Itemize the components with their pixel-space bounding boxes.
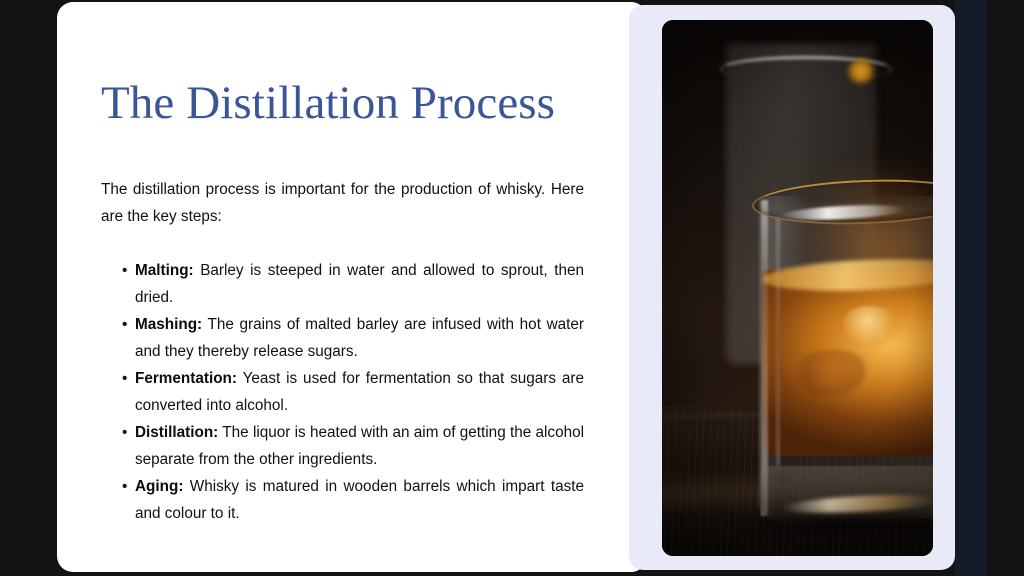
content-card: The Distillation Process The distillatio… [57,2,647,572]
gold-bokeh-highlight [846,58,876,84]
content-inner: The Distillation Process The distillatio… [101,2,627,572]
step-term: Malting: [135,262,194,279]
list-item: Aging: Whisky is matured in wooden barre… [122,473,584,527]
glass-inner-edge-highlight [776,216,780,466]
step-description: Barley is steeped in water and allowed t… [135,262,584,306]
distillation-steps-list: Malting: Barley is steeped in water and … [122,257,584,527]
step-term: Aging: [135,478,183,495]
glass-cast-shadow [748,512,933,538]
right-navy-band [955,0,987,576]
list-item: Mashing: The grains of malted barley are… [122,311,584,365]
whisky-glass-photo [662,20,933,556]
step-term: Fermentation: [135,370,237,387]
step-description: Whisky is matured in wooden barrels whic… [135,478,584,522]
step-description: The grains of malted barley are infused … [135,316,584,360]
list-item: Fermentation: Yeast is used for fermenta… [122,365,584,419]
photo-card [629,5,955,570]
list-item: Distillation: The liquor is heated with … [122,419,584,473]
photo-scene [662,20,933,556]
intro-paragraph: The distillation process is important fo… [101,176,584,230]
whisky-highlight-a [844,306,902,346]
page-title: The Distillation Process [101,80,555,127]
step-term: Distillation: [135,424,218,441]
slide-backdrop: The Distillation Process The distillatio… [0,0,1024,576]
list-item: Malting: Barley is steeped in water and … [122,257,584,311]
step-term: Mashing: [135,316,202,333]
